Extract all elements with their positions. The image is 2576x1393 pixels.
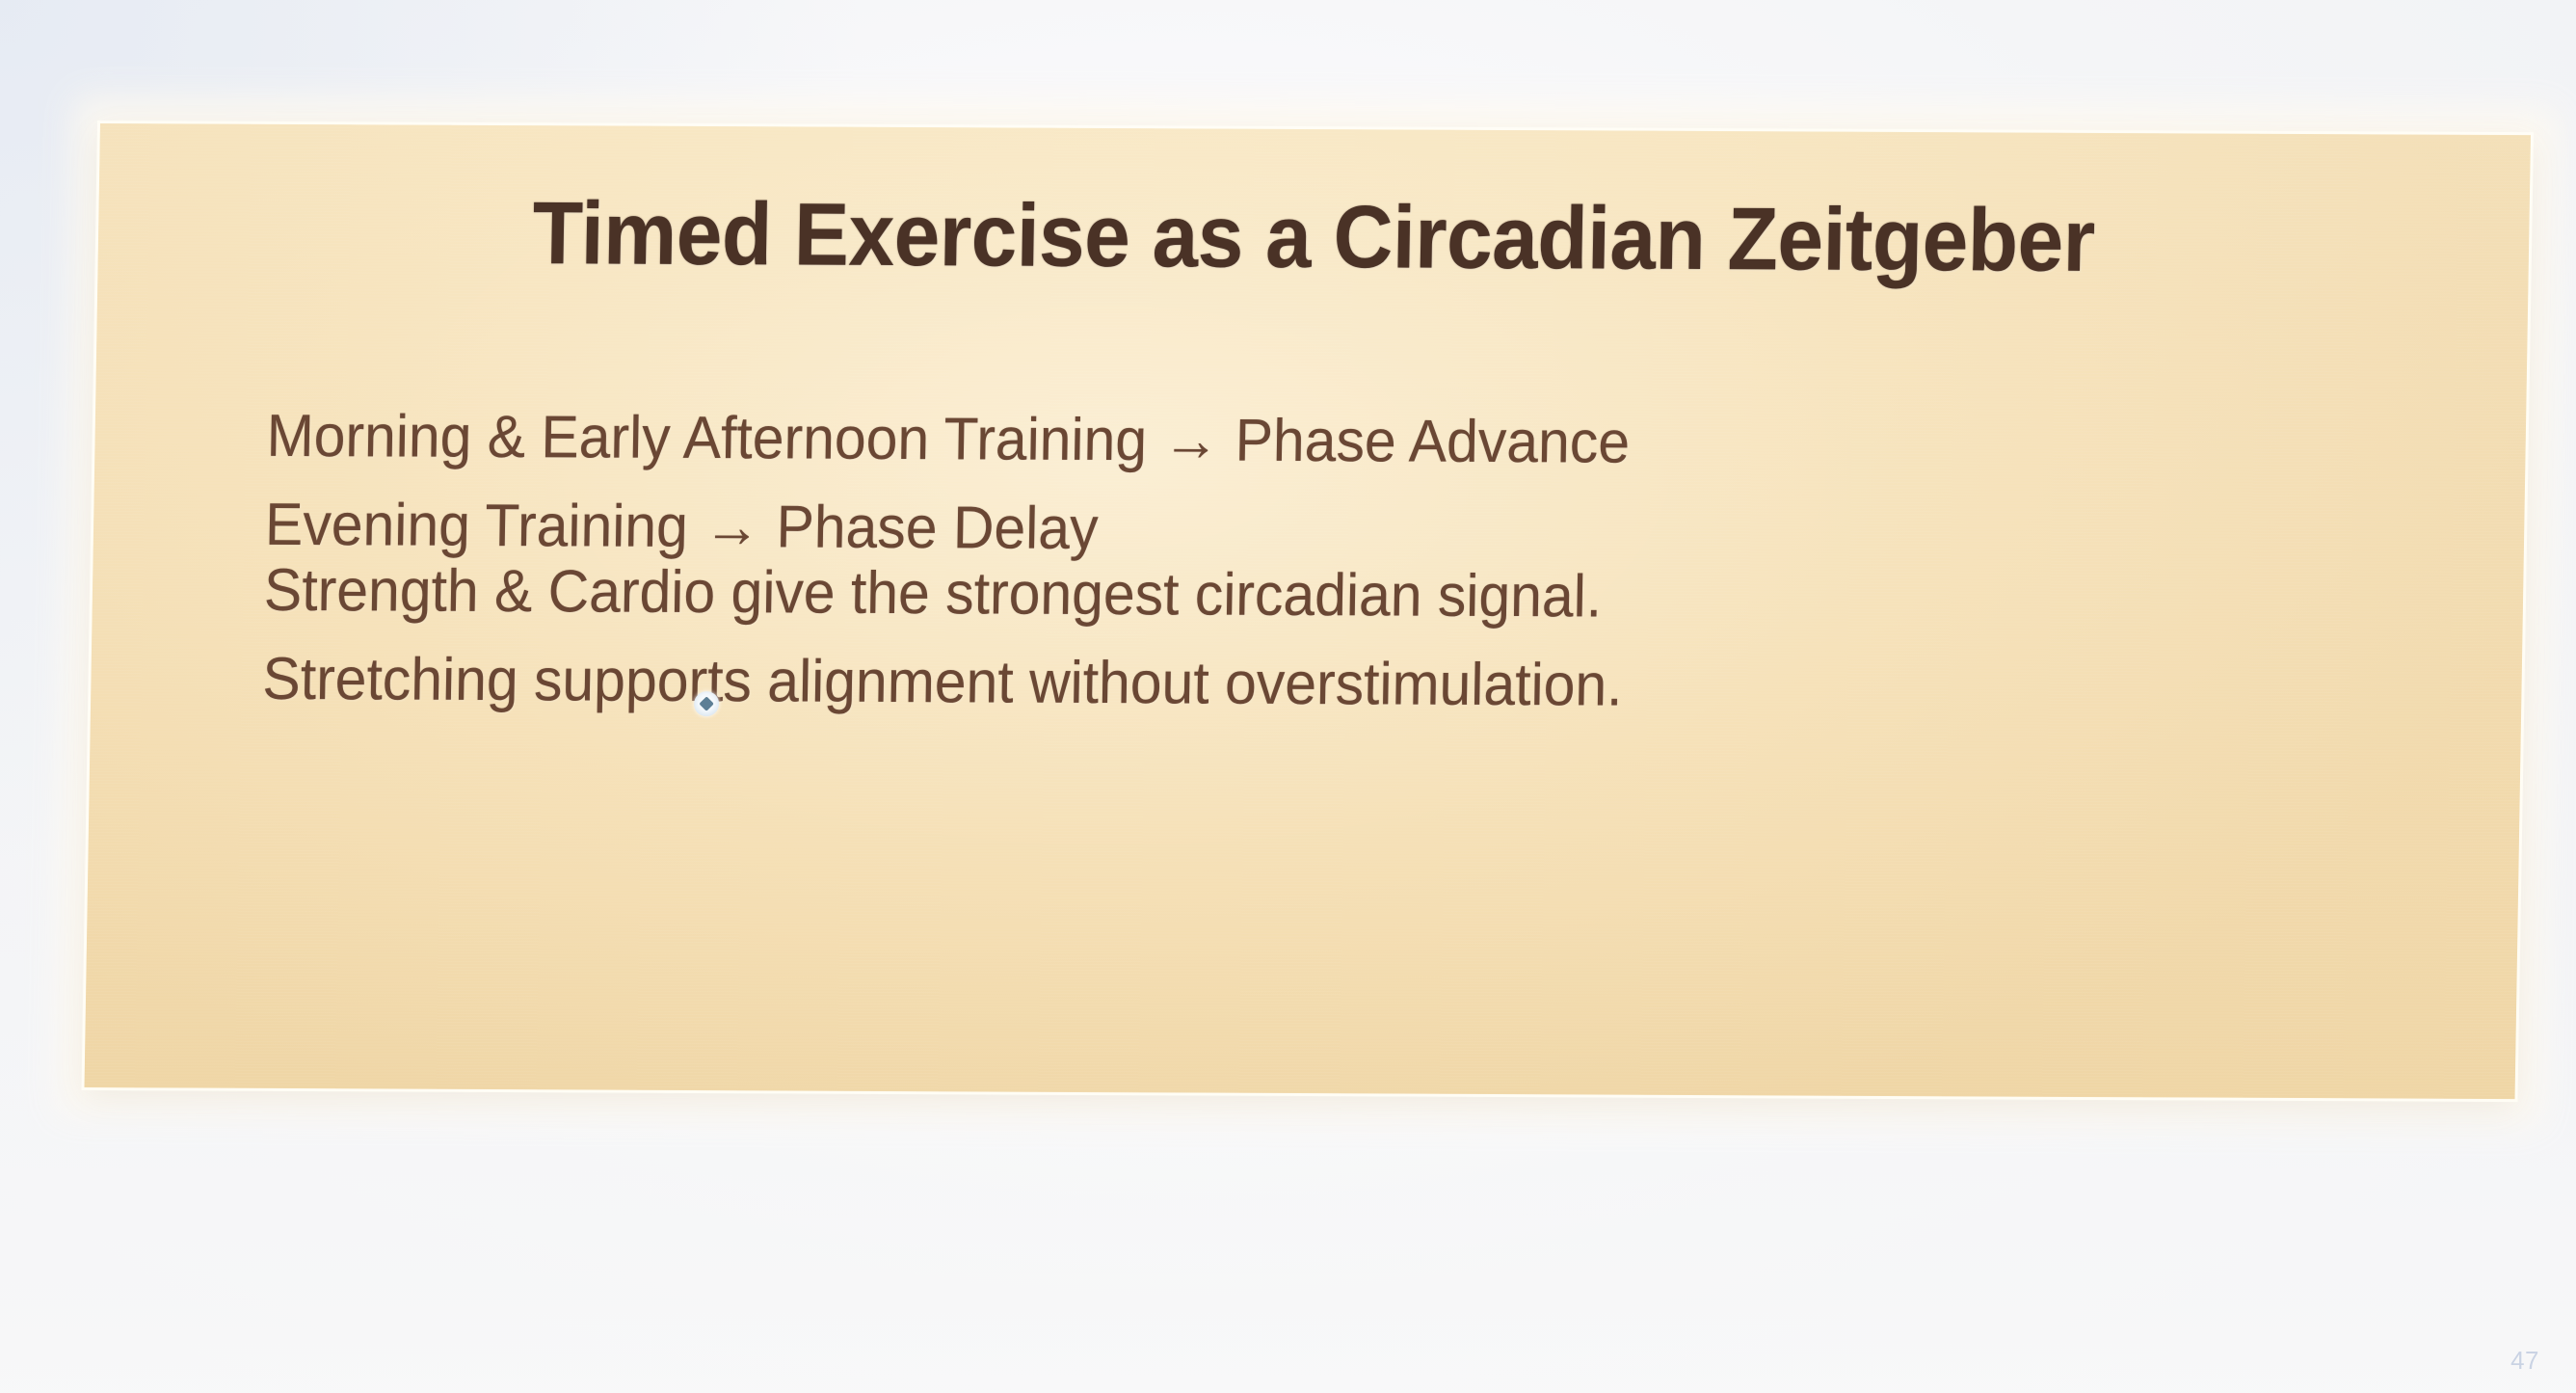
- slide-body-block-modality: Strength & Cardio give the strongest cir…: [262, 547, 1625, 731]
- slide-body-line-stretching: Stretching supports alignment without ov…: [262, 635, 1624, 731]
- slide-body-line-morning-training: Morning & Early Afternoon Training → Pha…: [266, 392, 1631, 488]
- slide-surface[interactable]: Timed Exercise as a Circadian Zeitgeber …: [85, 123, 2532, 1099]
- slide-content: Timed Exercise as a Circadian Zeitgeber …: [85, 123, 2532, 1099]
- presentation-capture-scene: Timed Exercise as a Circadian Zeitgeber …: [0, 0, 2576, 1393]
- slide-body-line-strength-cardio: Strength & Cardio give the strongest cir…: [263, 547, 1625, 642]
- slide-title: Timed Exercise as a Circadian Zeitgeber: [183, 187, 2445, 286]
- page-number: 47: [2510, 1346, 2539, 1376]
- projected-slide[interactable]: Timed Exercise as a Circadian Zeitgeber …: [85, 123, 2532, 1099]
